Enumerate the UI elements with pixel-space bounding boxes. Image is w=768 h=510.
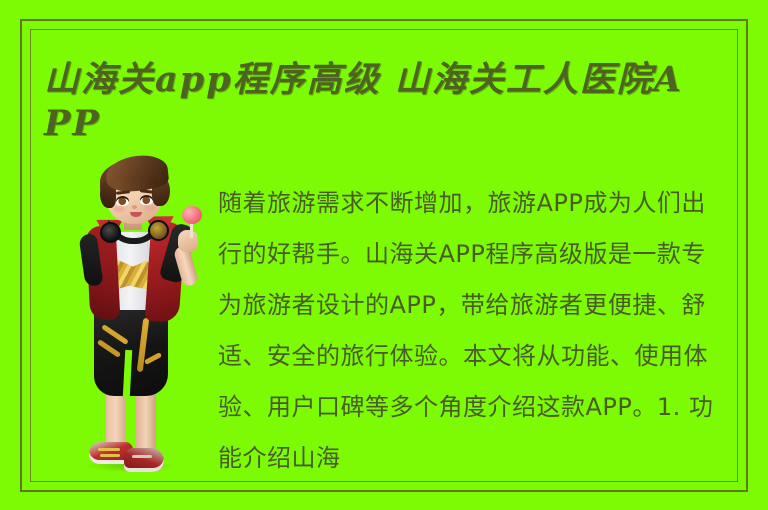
page-title: 山海关app程序高级 山海关工人医院APP (44, 58, 704, 146)
anime-boy-character-illustration (56, 160, 226, 490)
lollipop-candy (182, 206, 202, 224)
left-eye (116, 196, 129, 206)
nose (132, 205, 137, 209)
right-cheek-blush (144, 205, 156, 211)
left-cheek-blush (113, 206, 125, 212)
left-sneaker-stripe-2 (100, 454, 120, 457)
raised-hand (178, 230, 198, 252)
right-sneaker-stripe (132, 455, 152, 458)
right-sneaker (124, 448, 164, 472)
left-sneaker-stripe (98, 448, 120, 451)
right-eye (140, 195, 153, 205)
article-body-text: 随着旅游需求不断增加，旅游APP成为人们出行的好帮手。山海关APP程序高级版是一… (218, 178, 720, 484)
lollipop-stick (190, 222, 193, 238)
headphones-earcup-right (148, 220, 169, 241)
page-root: 山海关app程序高级 山海关工人医院APP 随着旅游需求不断增加，旅游APP成为… (0, 0, 768, 510)
headphones-earcup-left (100, 222, 121, 243)
right-leg (136, 388, 156, 450)
